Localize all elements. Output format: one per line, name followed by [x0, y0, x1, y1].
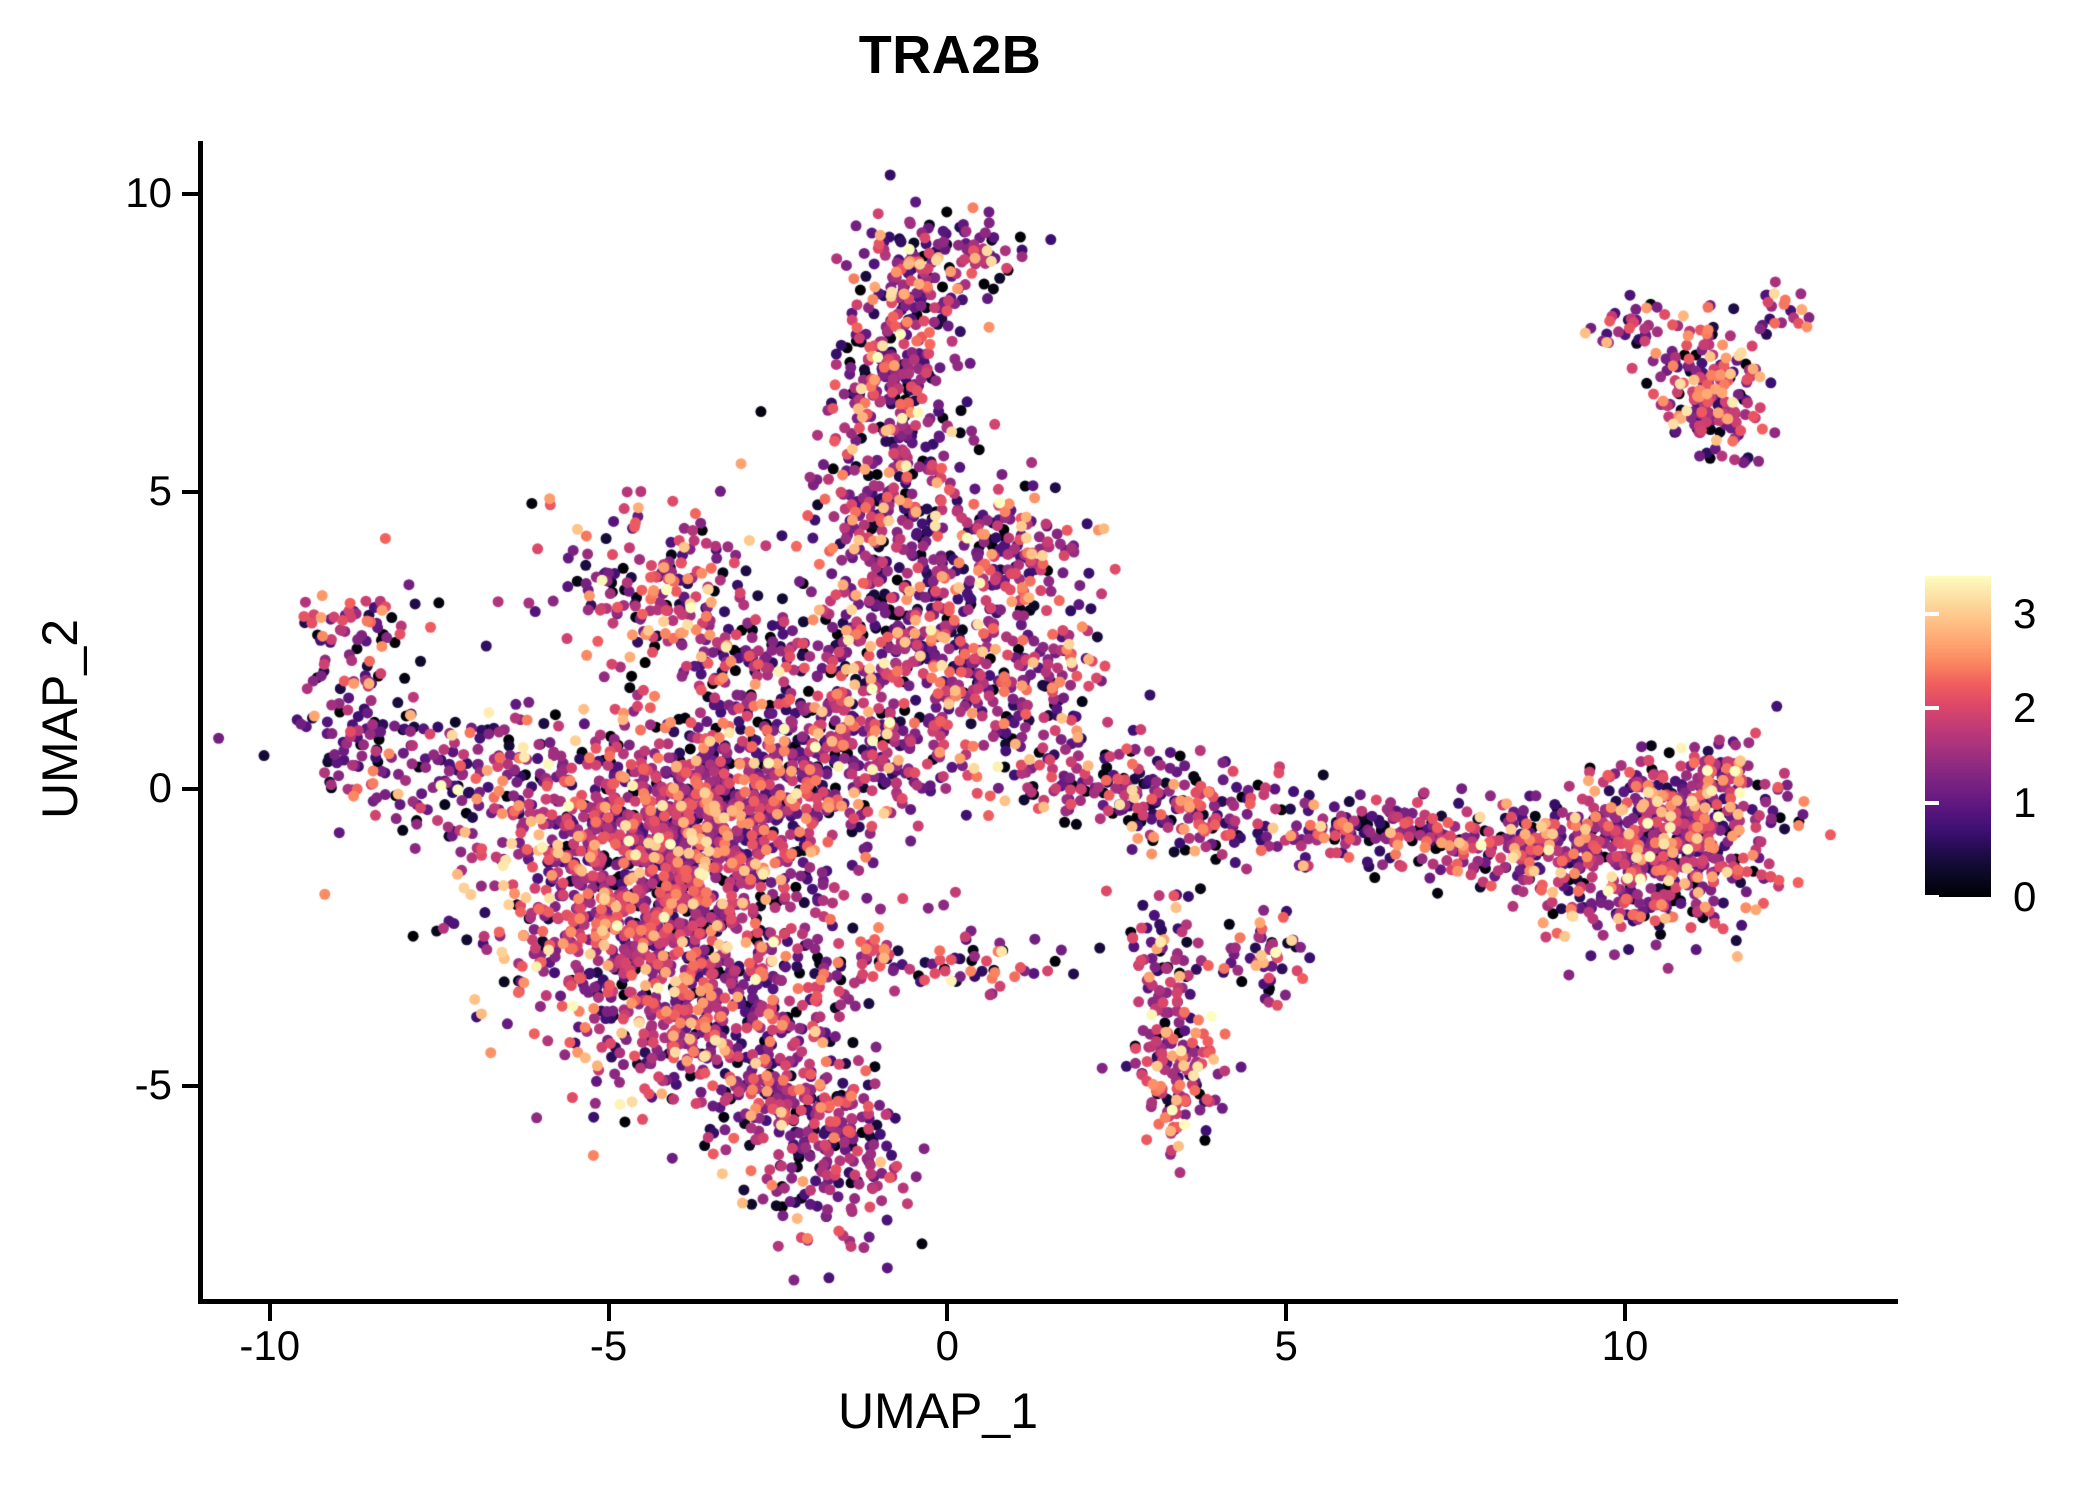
y-tick-label: -5 [22, 1064, 172, 1106]
y-axis-line [198, 141, 203, 1303]
y-tick-mark [182, 1084, 198, 1088]
colorbar-tick-mark [1925, 612, 1939, 616]
colorbar-gradient [1925, 576, 1991, 897]
x-tick-mark [268, 1304, 272, 1321]
colorbar-tick-label: 1 [2013, 782, 2083, 824]
y-axis-title: UMAP_2 [31, 429, 89, 1009]
x-tick-label: -5 [519, 1325, 699, 1367]
y-tick-mark [182, 787, 198, 791]
x-tick-label: 5 [1196, 1325, 1376, 1367]
colorbar-legend: 3210 [1925, 576, 2085, 906]
colorbar-tick-label: 3 [2013, 593, 2083, 635]
x-tick-label: -10 [180, 1325, 360, 1367]
x-tick-mark [1284, 1304, 1288, 1321]
y-tick-label: 10 [22, 172, 172, 214]
scatter-plot-canvas [202, 141, 1896, 1300]
x-axis-line [198, 1299, 1898, 1304]
colorbar-tick-label: 0 [2013, 876, 2083, 918]
y-tick-mark [182, 490, 198, 494]
x-tick-label: 10 [1535, 1325, 1715, 1367]
x-tick-mark [607, 1304, 611, 1321]
colorbar-tick-label: 2 [2013, 687, 2083, 729]
colorbar-tick-mark [1925, 801, 1939, 805]
page-title: TRA2B [0, 24, 1900, 86]
x-tick-mark [1623, 1304, 1627, 1321]
plot-panel [202, 141, 1896, 1300]
colorbar-tick-mark [1925, 895, 1939, 899]
x-axis-title: UMAP_1 [648, 1382, 1228, 1440]
chart-root: TRA2B 1050-5 -10-50510 UMAP_1 UMAP_2 321… [0, 0, 2100, 1500]
x-tick-label: 0 [857, 1325, 1037, 1367]
y-tick-mark [182, 192, 198, 196]
x-tick-mark [945, 1304, 949, 1321]
colorbar-tick-mark [1925, 706, 1939, 710]
